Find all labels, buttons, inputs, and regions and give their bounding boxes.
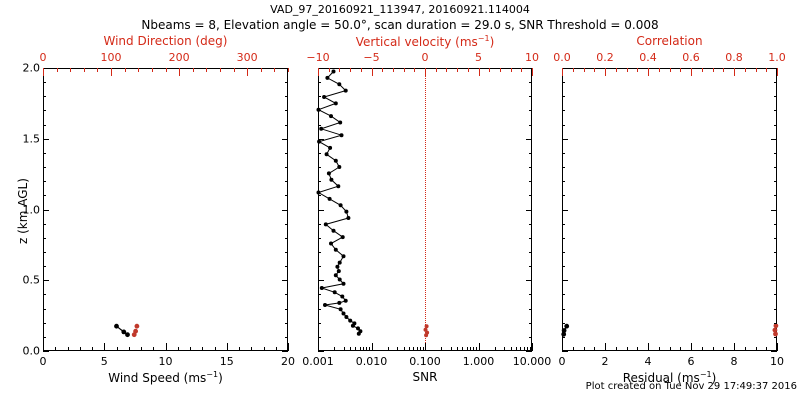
- x-minor-tick: [648, 347, 649, 351]
- y-minor-tick: [318, 323, 321, 324]
- x-minor-tick: [57, 68, 58, 72]
- y-tick-label: 0.5: [23, 274, 41, 287]
- x-minor-tick: [264, 347, 265, 351]
- x-tick: [372, 343, 373, 351]
- x-minor-tick: [734, 68, 735, 72]
- x-tick-label: 0.010: [356, 355, 388, 368]
- x-minor-tick: [334, 347, 335, 351]
- x-minor-tick: [462, 347, 463, 351]
- x-minor-tick: [659, 347, 660, 351]
- x-minor-tick: [605, 68, 606, 72]
- x-tick-label: 5: [475, 51, 482, 64]
- y-minor-tick: [285, 210, 288, 211]
- y-minor-tick: [529, 125, 532, 126]
- x-minor-tick: [190, 347, 191, 351]
- y-minor-tick: [529, 210, 532, 211]
- x-minor-tick: [594, 347, 595, 351]
- x-minor-tick: [766, 68, 767, 72]
- x-minor-tick: [404, 68, 405, 72]
- y-minor-tick: [774, 82, 777, 83]
- x-minor-tick: [234, 68, 235, 72]
- x-minor-tick: [397, 347, 398, 351]
- data-point-wind-direction: [135, 324, 140, 329]
- y-tick: [43, 139, 49, 140]
- x-minor-tick: [43, 68, 44, 72]
- x-minor-tick: [111, 68, 112, 72]
- y-minor-tick: [318, 181, 321, 182]
- x-minor-tick: [777, 68, 778, 72]
- x-minor-tick: [206, 68, 207, 72]
- x-minor-tick: [350, 347, 351, 351]
- data-point-snr: [337, 301, 341, 305]
- x-minor-tick: [670, 347, 671, 351]
- y-minor-tick: [43, 181, 46, 182]
- y-tick-label: 1.5: [23, 132, 41, 145]
- x-tick-label: 10: [770, 355, 784, 368]
- x-minor-tick: [562, 68, 563, 72]
- x-minor-tick: [215, 347, 216, 351]
- y-minor-tick: [285, 294, 288, 295]
- y-minor-tick: [43, 195, 46, 196]
- x-tick-label: 0.2: [596, 51, 614, 64]
- data-point-snr: [334, 248, 338, 252]
- y-minor-tick: [285, 323, 288, 324]
- data-point-snr: [344, 210, 348, 214]
- y-minor-tick: [285, 181, 288, 182]
- data-point-snr: [334, 159, 338, 163]
- data-point-snr: [333, 290, 337, 294]
- data-point-snr: [344, 299, 348, 303]
- y-tick-label: 0.0: [23, 345, 41, 358]
- y-minor-tick: [562, 252, 565, 253]
- x-tick-label: 10: [525, 51, 539, 64]
- x-minor-tick: [702, 347, 703, 351]
- x-minor-tick: [756, 68, 757, 72]
- y-minor-tick: [318, 110, 321, 111]
- y-minor-tick: [774, 167, 777, 168]
- data-point-snr: [328, 146, 332, 150]
- data-point-snr: [337, 165, 341, 169]
- y-minor-tick: [285, 167, 288, 168]
- y-tick: [318, 139, 324, 140]
- y-minor-tick: [318, 82, 321, 83]
- x-minor-tick: [713, 68, 714, 72]
- x-minor-tick: [404, 347, 405, 351]
- data-point-snr: [322, 95, 326, 99]
- x-minor-tick: [129, 347, 130, 351]
- x-minor-tick: [489, 68, 490, 72]
- y-minor-tick: [562, 210, 565, 211]
- x-minor-tick: [318, 68, 319, 72]
- x-minor-tick: [417, 347, 418, 351]
- x-minor-tick: [745, 347, 746, 351]
- x-minor-tick: [473, 347, 474, 351]
- x-minor-tick: [627, 68, 628, 72]
- y-minor-tick: [318, 337, 321, 338]
- x-minor-tick: [425, 68, 426, 72]
- x-tick-label: 6: [688, 355, 695, 368]
- y-tick: [526, 351, 532, 352]
- data-point-snr: [336, 184, 340, 188]
- y-minor-tick: [529, 224, 532, 225]
- x-minor-tick: [70, 68, 71, 72]
- x-minor-tick: [84, 68, 85, 72]
- x-minor-tick: [702, 68, 703, 72]
- y-minor-tick: [529, 323, 532, 324]
- y-minor-tick: [562, 195, 565, 196]
- y-tick-label: 1.0: [23, 203, 41, 216]
- y-minor-tick: [285, 110, 288, 111]
- y-minor-tick: [529, 252, 532, 253]
- data-point-snr: [337, 269, 341, 273]
- x-minor-tick: [350, 68, 351, 72]
- y-minor-tick: [43, 224, 46, 225]
- y-minor-tick: [285, 252, 288, 253]
- y-minor-tick: [529, 266, 532, 267]
- y-minor-tick: [562, 125, 565, 126]
- data-point-snr: [324, 222, 328, 226]
- x-minor-tick: [516, 347, 517, 351]
- y-minor-tick: [43, 82, 46, 83]
- x-minor-tick: [372, 68, 373, 72]
- x-minor-tick: [178, 347, 179, 351]
- y-minor-tick: [562, 167, 565, 168]
- x-tick: [318, 343, 319, 351]
- x-minor-tick: [166, 347, 167, 351]
- data-point-snr: [323, 303, 327, 307]
- y-minor-tick: [43, 252, 46, 253]
- x-tick-label: 0: [422, 51, 429, 64]
- y-minor-tick: [562, 153, 565, 154]
- y-minor-tick: [529, 309, 532, 310]
- y-minor-tick: [562, 266, 565, 267]
- x-minor-tick: [97, 68, 98, 72]
- x-minor-tick: [532, 68, 533, 72]
- x-minor-tick: [276, 347, 277, 351]
- y-minor-tick: [43, 96, 46, 97]
- data-point-snr: [325, 152, 329, 156]
- y-minor-tick: [285, 195, 288, 196]
- x-minor-tick: [594, 68, 595, 72]
- y-minor-tick: [562, 224, 565, 225]
- y-minor-tick: [285, 266, 288, 267]
- x-minor-tick: [68, 347, 69, 351]
- data-point-vertical-velocity: [424, 333, 428, 337]
- x-minor-tick: [562, 347, 563, 351]
- x-minor-tick: [344, 347, 345, 351]
- x-minor-tick: [360, 347, 361, 351]
- x-minor-tick: [393, 68, 394, 72]
- data-point-snr: [325, 76, 329, 80]
- x-minor-tick: [414, 68, 415, 72]
- y-minor-tick: [318, 224, 321, 225]
- x-minor-tick: [423, 347, 424, 351]
- x-minor-tick: [388, 347, 389, 351]
- y-minor-tick: [774, 195, 777, 196]
- x-minor-tick: [369, 347, 370, 351]
- data-point-snr: [339, 203, 343, 207]
- x-minor-tick: [361, 68, 362, 72]
- x-minor-tick: [457, 347, 458, 351]
- y-minor-tick: [774, 210, 777, 211]
- x-minor-tick: [637, 68, 638, 72]
- x-minor-tick: [355, 347, 356, 351]
- y-minor-tick: [774, 110, 777, 111]
- x-minor-tick: [777, 347, 778, 351]
- x-minor-tick: [723, 347, 724, 351]
- x-minor-tick: [520, 347, 521, 351]
- y-minor-tick: [562, 181, 565, 182]
- x-minor-tick: [193, 68, 194, 72]
- x-minor-tick: [366, 347, 367, 351]
- x-minor-tick: [637, 347, 638, 351]
- y-minor-tick: [774, 181, 777, 182]
- x-minor-tick: [616, 68, 617, 72]
- x-minor-tick: [470, 347, 471, 351]
- x-minor-tick: [495, 347, 496, 351]
- x-minor-tick: [476, 347, 477, 351]
- y-minor-tick: [285, 224, 288, 225]
- x-tick-label: 0.100: [409, 355, 441, 368]
- y-minor-tick: [774, 337, 777, 338]
- y-minor-tick: [774, 252, 777, 253]
- x-minor-tick: [511, 68, 512, 72]
- data-point-snr: [340, 133, 344, 137]
- y-minor-tick: [285, 82, 288, 83]
- x-minor-tick: [329, 68, 330, 72]
- x-minor-tick: [670, 68, 671, 72]
- data-point-wind-speed: [125, 332, 130, 337]
- x-minor-tick: [247, 68, 248, 72]
- x-minor-tick: [573, 68, 574, 72]
- y-minor-tick: [43, 294, 46, 295]
- y-tick: [562, 280, 568, 281]
- x-tick-label: 4: [645, 355, 652, 368]
- data-point-snr: [335, 265, 339, 269]
- x-tick-label: 10: [159, 355, 173, 368]
- data-point-snr: [341, 235, 345, 239]
- x-minor-tick: [457, 68, 458, 72]
- x-minor-tick: [734, 347, 735, 351]
- y-minor-tick: [562, 337, 565, 338]
- y-minor-tick: [285, 125, 288, 126]
- y-minor-tick: [774, 96, 777, 97]
- x-minor-tick: [80, 347, 81, 351]
- x-minor-tick: [141, 347, 142, 351]
- x-minor-tick: [179, 68, 180, 72]
- y-minor-tick: [43, 238, 46, 239]
- x-minor-tick: [220, 68, 221, 72]
- y-tick: [526, 139, 532, 140]
- x-minor-tick: [446, 68, 447, 72]
- x-minor-tick: [524, 347, 525, 351]
- x-tick-label: 1.0: [768, 51, 786, 64]
- data-point-snr: [342, 254, 346, 258]
- y-minor-tick: [43, 210, 46, 211]
- x-minor-tick: [745, 68, 746, 72]
- x-tick-label: 0.0: [553, 51, 571, 64]
- y-minor-tick: [318, 167, 321, 168]
- data-point-snr: [319, 127, 323, 131]
- data-point-snr: [334, 101, 338, 105]
- data-point-snr: [332, 70, 336, 74]
- x-tick-label: 5: [101, 355, 108, 368]
- y-minor-tick: [285, 309, 288, 310]
- x-minor-tick: [680, 68, 681, 72]
- y-minor-tick: [562, 110, 565, 111]
- data-point-residual: [564, 324, 569, 329]
- y-minor-tick: [318, 153, 321, 154]
- y-minor-tick: [529, 153, 532, 154]
- y-minor-tick: [774, 266, 777, 267]
- y-minor-tick: [43, 110, 46, 111]
- x-minor-tick: [152, 68, 153, 72]
- x-minor-tick: [227, 347, 228, 351]
- x-minor-tick: [55, 347, 56, 351]
- x-minor-tick: [584, 68, 585, 72]
- x-minor-tick: [441, 347, 442, 351]
- data-point-snr: [340, 295, 344, 299]
- x-minor-tick: [92, 347, 93, 351]
- y-minor-tick: [529, 337, 532, 338]
- x-minor-tick: [166, 68, 167, 72]
- y-minor-tick: [562, 294, 565, 295]
- x-minor-tick: [627, 347, 628, 351]
- x-minor-tick: [467, 347, 468, 351]
- y-tick: [771, 351, 777, 352]
- y-minor-tick: [562, 82, 565, 83]
- x-tick-label: 20: [281, 355, 295, 368]
- x-tick-label: 200: [169, 51, 190, 64]
- y-minor-tick: [43, 153, 46, 154]
- y-minor-tick: [774, 224, 777, 225]
- x-minor-tick: [409, 347, 410, 351]
- y-tick: [771, 139, 777, 140]
- y-tick: [562, 139, 568, 140]
- data-point-snr: [338, 278, 342, 282]
- data-point-wind-speed: [114, 324, 119, 329]
- x-minor-tick: [125, 68, 126, 72]
- data-point-snr: [357, 332, 361, 336]
- x-minor-tick: [117, 347, 118, 351]
- y-minor-tick: [318, 238, 321, 239]
- x-minor-tick: [584, 347, 585, 351]
- data-point-snr: [329, 178, 333, 182]
- data-point-snr: [334, 273, 338, 277]
- y-minor-tick: [318, 195, 321, 196]
- y-minor-tick: [318, 125, 321, 126]
- data-point-snr: [328, 197, 332, 201]
- x-minor-tick: [288, 347, 289, 351]
- x-tick-label: 0: [559, 355, 566, 368]
- x-minor-tick: [382, 68, 383, 72]
- data-point-snr: [342, 312, 346, 316]
- x-tick-label: 0.4: [639, 51, 657, 64]
- x-minor-tick: [766, 347, 767, 351]
- data-point-snr: [337, 82, 341, 86]
- x-axis-label-bottom: Wind Speed (ms−1): [16, 370, 316, 385]
- data-point-snr: [338, 121, 342, 125]
- data-point-correlation: [773, 332, 778, 337]
- x-tick-label: 2: [602, 355, 609, 368]
- y-minor-tick: [43, 266, 46, 267]
- x-tick-label: 0.8: [725, 51, 743, 64]
- x-minor-tick: [691, 68, 692, 72]
- x-tick-label: 100: [101, 51, 122, 64]
- y-minor-tick: [529, 167, 532, 168]
- y-minor-tick: [529, 181, 532, 182]
- y-minor-tick: [318, 96, 321, 97]
- x-minor-tick: [680, 347, 681, 351]
- y-minor-tick: [774, 238, 777, 239]
- y-minor-tick: [285, 337, 288, 338]
- data-point-snr: [351, 324, 355, 328]
- x-tick-label: 0.001: [302, 355, 334, 368]
- x-minor-tick: [436, 68, 437, 72]
- y-minor-tick: [285, 153, 288, 154]
- x-minor-tick: [43, 347, 44, 351]
- y-tick: [562, 351, 568, 352]
- x-tick-label: 1.000: [463, 355, 495, 368]
- y-minor-tick: [529, 294, 532, 295]
- y-minor-tick: [774, 125, 777, 126]
- y-tick: [43, 351, 49, 352]
- x-tick-label: 0.6: [682, 51, 700, 64]
- x-minor-tick: [288, 68, 289, 72]
- x-minor-tick: [413, 347, 414, 351]
- x-minor-tick: [713, 347, 714, 351]
- y-minor-tick: [529, 96, 532, 97]
- x-minor-tick: [479, 68, 480, 72]
- x-minor-tick: [274, 68, 275, 72]
- x-minor-tick: [756, 347, 757, 351]
- x-minor-tick: [363, 347, 364, 351]
- x-tick-label: 10.000: [513, 355, 552, 368]
- y-tick-label: 2.0: [23, 62, 41, 75]
- y-minor-tick: [529, 238, 532, 239]
- x-minor-tick: [500, 68, 501, 72]
- data-point-snr: [332, 229, 336, 233]
- x-minor-tick: [504, 347, 505, 351]
- y-minor-tick: [318, 210, 321, 211]
- x-minor-tick: [691, 347, 692, 351]
- x-minor-tick: [530, 347, 531, 351]
- x-tick-label: 300: [237, 51, 258, 64]
- x-minor-tick: [138, 68, 139, 72]
- y-minor-tick: [529, 195, 532, 196]
- data-point-snr: [346, 216, 350, 220]
- y-tick: [771, 280, 777, 281]
- y-minor-tick: [529, 110, 532, 111]
- x-minor-tick: [420, 347, 421, 351]
- y-minor-tick: [43, 125, 46, 126]
- y-tick: [526, 280, 532, 281]
- y-minor-tick: [318, 252, 321, 253]
- x-minor-tick: [723, 68, 724, 72]
- data-point-snr: [327, 171, 331, 175]
- y-minor-tick: [285, 96, 288, 97]
- x-tick-label: 8: [731, 355, 738, 368]
- y-minor-tick: [43, 337, 46, 338]
- x-axis-label-top: Correlation: [520, 34, 800, 48]
- x-tick-label: 0: [40, 51, 47, 64]
- x-tick-label: −5: [363, 51, 379, 64]
- x-minor-tick: [153, 347, 154, 351]
- y-minor-tick: [562, 323, 565, 324]
- x-minor-tick: [104, 347, 105, 351]
- x-minor-tick: [605, 347, 606, 351]
- data-point-vertical-velocity: [425, 324, 429, 328]
